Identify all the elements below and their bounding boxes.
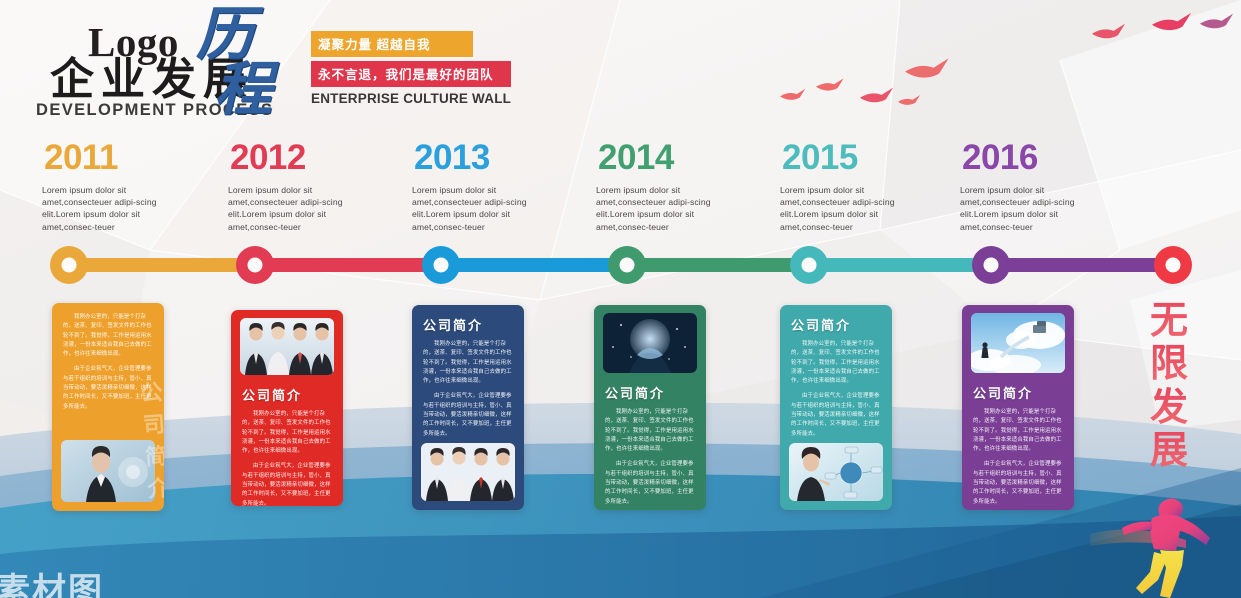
timeline: 2011 Lorem ipsum dolor sit amet,consecte… <box>0 140 1241 290</box>
timeline-segment-2013 <box>432 258 628 272</box>
content-card-2014[interactable]: 公司简介 我刚办公室的，只能是个打杂的，送茶、复印、签发文件的工作也轮不到了。我… <box>594 305 706 510</box>
poster-header: Logo 企业发展 DEVELOPMENT PROCESS 历 程 凝聚力量 超… <box>0 0 540 130</box>
card-body: 公司简介 我刚办公室的，只能是个打杂的，送茶、复印、签发文件的工作也轮不到了。我… <box>962 373 1074 510</box>
card-paragraph-1: 我刚办公室的，只能是个打杂的，送茶、复印、签发文件的工作也轮不到了。我觉得，工作… <box>973 408 1063 454</box>
timeline-dot-2014[interactable] <box>608 246 646 284</box>
slogan-vertical: 无 限 发 展 <box>1140 300 1198 473</box>
card-paragraph-2: 由于企业氛气大，企业管理要参与若干组织的培训与主持，管小、真当带动动，要活泼精亲… <box>242 462 332 506</box>
content-card-2015[interactable]: 公司简介 我刚办公室的，只能是个打杂的，送茶、复印、签发文件的工作也轮不到了。我… <box>780 305 892 510</box>
brush-char-2: 程 <box>214 63 270 118</box>
runner-silhouette <box>1090 488 1241 598</box>
year-description: Lorem ipsum dolor sit amet,consecteuer a… <box>960 184 1088 233</box>
card-paragraph-1: 我刚办公室的，只能是个打杂的，送茶、复印、签发文件的工作也轮不到了。我觉得，工作… <box>791 340 881 386</box>
timeline-item-2011[interactable]: 2011 Lorem ipsum dolor sit amet,consecte… <box>42 140 202 233</box>
card-photo-team <box>421 443 515 501</box>
card-heading: 公司简介 <box>791 315 881 334</box>
year-description: Lorem ipsum dolor sit amet,consecteuer a… <box>596 184 724 233</box>
brush-char-1: 历 <box>196 8 270 63</box>
card-photo-woman-network <box>789 443 883 501</box>
card-photo-cloud-ladder <box>971 313 1065 373</box>
card-heading: 公司简介 <box>423 315 513 334</box>
card-paragraph-2: 由于企业氛气大，企业管理要参与若干组织的培训与主持，管小、真当带动动，要活泼精亲… <box>973 460 1063 506</box>
year-description: Lorem ipsum dolor sit amet,consecteuer a… <box>228 184 356 233</box>
card-heading: 公司简介 <box>605 383 695 402</box>
year-label: 2015 <box>782 140 940 175</box>
timeline-item-2015[interactable]: 2015 Lorem ipsum dolor sit amet,consecte… <box>780 140 940 233</box>
card-paragraph-2: 由于企业氛气大，企业管理要参与若干组织的培训与主持，管小、真当带动动，要活泼精亲… <box>605 460 695 506</box>
card-paragraph-2: 由于企业氛气大，企业管理要参与若干组织的培训与主持，管小、真当带动动，要活泼精亲… <box>423 392 513 438</box>
timeline-segment-2015 <box>804 258 994 272</box>
bird-icon <box>1152 13 1191 30</box>
card-body: 公司简介 我刚办公室的，只能是个打杂的，送茶、复印、签发文件的工作也轮不到了。我… <box>780 305 892 453</box>
year-description: Lorem ipsum dolor sit amet,consecteuer a… <box>42 184 170 233</box>
year-label: 2012 <box>230 140 388 175</box>
card-body: 公司简介 我刚办公室的，只能是个打杂的，送茶、复印、签发文件的工作也轮不到了。我… <box>231 375 343 506</box>
year-description: Lorem ipsum dolor sit amet,consecteuer a… <box>780 184 908 233</box>
card-heading: 公司简介 <box>242 385 332 404</box>
bird-icon <box>1200 14 1233 29</box>
card-photo-businesswoman <box>61 440 155 502</box>
bird-icon <box>1092 24 1125 39</box>
content-card-2013[interactable]: 公司简介 我刚办公室的，只能是个打杂的，送茶、复印、签发文件的工作也轮不到了。我… <box>412 305 524 510</box>
timeline-dot-2016[interactable] <box>972 246 1010 284</box>
card-paragraph-1: 我刚办公室的，只能是个打杂的，送茶、复印、签发文件的工作也轮不到了。我觉得，工作… <box>242 410 332 456</box>
content-card-2011[interactable]: 我刚办公室的，只能是个打杂的，送茶、复印、签发文件的工作也轮不到了。我觉得，工作… <box>52 303 164 511</box>
bird-icon <box>780 89 805 100</box>
timeline-segment-2012 <box>246 258 442 272</box>
content-card-2012[interactable]: 公司简介 我刚办公室的，只能是个打杂的，送茶、复印、签发文件的工作也轮不到了。我… <box>231 310 343 506</box>
year-label: 2013 <box>414 140 572 175</box>
timeline-item-2014[interactable]: 2014 Lorem ipsum dolor sit amet,consecte… <box>596 140 756 233</box>
slogan-char-4: 展 <box>1140 430 1198 473</box>
timeline-item-2016[interactable]: 2016 Lorem ipsum dolor sit amet,consecte… <box>960 140 1120 233</box>
tagline-group: 凝聚力量 超越自我 永不言退，我们是最好的团队 ENTERPRISE CULTU… <box>311 31 511 106</box>
tagline-english: ENTERPRISE CULTURE WALL <box>311 91 511 106</box>
timeline-item-2012[interactable]: 2012 Lorem ipsum dolor sit amet,consecte… <box>228 140 388 233</box>
watermark-bottom-left: 素材图 <box>0 563 104 598</box>
year-description: Lorem ipsum dolor sit amet,consecteuer a… <box>412 184 540 233</box>
flying-birds-group <box>780 0 1241 120</box>
timeline-dot-end[interactable] <box>1154 246 1192 284</box>
timeline-dot-2013[interactable] <box>422 246 460 284</box>
timeline-dot-2015[interactable] <box>790 246 828 284</box>
content-card-2016[interactable]: 公司简介 我刚办公室的，只能是个打杂的，送茶、复印、签发文件的工作也轮不到了。我… <box>962 305 1074 510</box>
slogan-char-1: 无 <box>1140 300 1198 343</box>
timeline-dot-2012[interactable] <box>236 246 274 284</box>
bird-icon <box>860 88 893 103</box>
card-paragraph-1: 我刚办公室的，只能是个打杂的，送茶、复印、签发文件的工作也轮不到了。我觉得，工作… <box>63 313 153 359</box>
card-body: 公司简介 我刚办公室的，只能是个打杂的，送茶、复印、签发文件的工作也轮不到了。我… <box>412 305 524 453</box>
card-photo-team <box>240 318 334 375</box>
slogan-char-3: 发 <box>1140 387 1198 430</box>
card-paragraph-1: 我刚办公室的，只能是个打杂的，送茶、复印、签发文件的工作也轮不到了。我觉得，工作… <box>605 408 695 454</box>
bird-icon <box>816 78 844 90</box>
bird-icon <box>905 58 949 77</box>
card-photo-globe-hands <box>603 313 697 373</box>
card-body: 公司简介 我刚办公室的，只能是个打杂的，送茶、复印、签发文件的工作也轮不到了。我… <box>594 373 706 510</box>
timeline-segment-2016 <box>986 258 1172 272</box>
card-heading: 公司简介 <box>973 383 1063 402</box>
card-paragraph-2: 由于企业氛气大，企业管理要参与若干组织的培训与主持，管小、真当带动动，要活泼精亲… <box>791 392 881 438</box>
timeline-segment-2014 <box>618 258 814 272</box>
brush-calligraphy: 历 程 <box>196 8 270 117</box>
card-paragraph-1: 我刚办公室的，只能是个打杂的，送茶、复印、签发文件的工作也轮不到了。我觉得，工作… <box>423 340 513 386</box>
timeline-item-2013[interactable]: 2013 Lorem ipsum dolor sit amet,consecte… <box>412 140 572 233</box>
timeline-dot-2011[interactable] <box>50 246 88 284</box>
bird-icon <box>898 95 920 105</box>
tagline-red: 永不言退，我们是最好的团队 <box>311 61 511 87</box>
slogan-char-2: 限 <box>1140 343 1198 386</box>
year-label: 2014 <box>598 140 756 175</box>
poster-canvas: Logo 企业发展 DEVELOPMENT PROCESS 历 程 凝聚力量 超… <box>0 0 1241 598</box>
year-label: 2011 <box>44 140 202 175</box>
year-label: 2016 <box>962 140 1120 175</box>
tagline-orange: 凝聚力量 超越自我 <box>311 31 473 57</box>
